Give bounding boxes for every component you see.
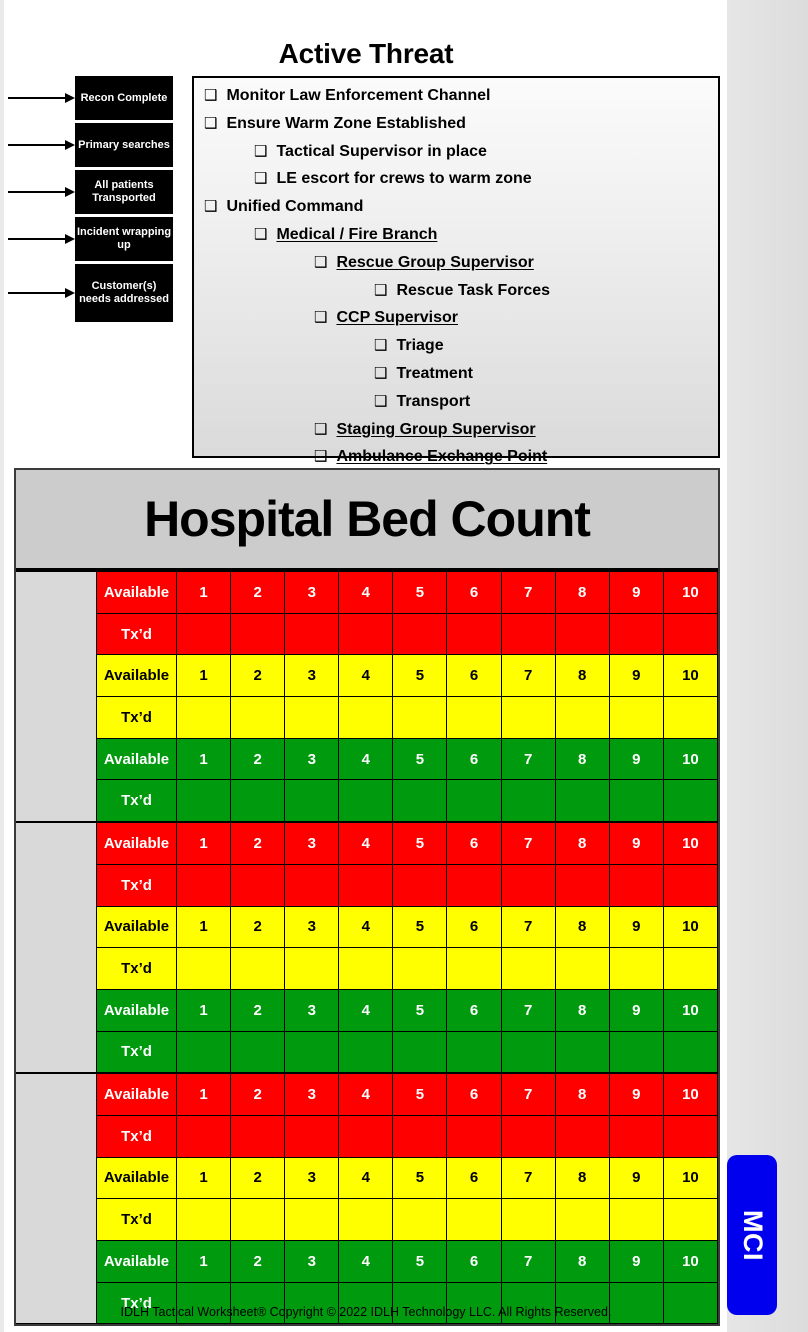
checklist-item-label: Transport — [396, 389, 470, 416]
bed-number-cell[interactable]: 10 — [663, 989, 717, 1031]
bed-number-cell[interactable]: 10 — [663, 1157, 717, 1199]
bed-entry-cell[interactable] — [501, 1115, 555, 1157]
row-label-cell: Tx’d — [97, 1031, 177, 1073]
bed-number-cell[interactable]: 1 — [177, 655, 231, 697]
checklist-item[interactable]: ❑Staging Group Supervisor — [194, 416, 718, 444]
bed-number-cell[interactable]: 5 — [393, 906, 447, 948]
row-label-cell: Tx’d — [97, 780, 177, 822]
row-label-cell: Available — [97, 655, 177, 697]
row-label-cell: Tx’d — [97, 1199, 177, 1241]
checkbox-icon[interactable]: ❑ — [254, 165, 267, 192]
table-row: Tx’d — [16, 1031, 718, 1073]
row-label-cell: Available — [97, 989, 177, 1031]
bed-entry-cell[interactable] — [393, 864, 447, 906]
bed-entry-cell[interactable] — [393, 780, 447, 822]
bed-entry-cell[interactable] — [501, 864, 555, 906]
bed-number-cell[interactable]: 9 — [609, 989, 663, 1031]
bed-number-cell[interactable]: 7 — [501, 1073, 555, 1115]
page-title: Active Threat — [5, 38, 727, 70]
bed-entry-cell[interactable] — [501, 1031, 555, 1073]
bed-number-cell[interactable]: 5 — [393, 571, 447, 613]
hospital-bed-count-title: Hospital Bed Count — [16, 470, 718, 570]
checklist-item-label: Rescue Task Forces — [396, 278, 550, 305]
bed-number-cell[interactable]: 10 — [663, 1241, 717, 1283]
arrow-icon-1 — [8, 97, 66, 99]
bed-number-cell[interactable]: 4 — [339, 655, 393, 697]
bed-number-cell[interactable]: 7 — [501, 906, 555, 948]
bed-number-cell[interactable]: 3 — [285, 571, 339, 613]
bed-number-cell[interactable]: 7 — [501, 989, 555, 1031]
row-label-cell: Available — [97, 1073, 177, 1115]
bed-number-cell[interactable]: 2 — [231, 1073, 285, 1115]
bed-number-cell[interactable]: 6 — [447, 571, 501, 613]
bed-entry-cell[interactable] — [609, 1115, 663, 1157]
bed-entry-cell[interactable] — [501, 697, 555, 739]
checklist-item[interactable]: ❑Ensure Warm Zone Established — [194, 110, 718, 138]
bed-entry-cell[interactable] — [393, 1199, 447, 1241]
bed-entry-cell[interactable] — [555, 613, 609, 655]
checklist-item-label: Ensure Warm Zone Established — [226, 111, 465, 138]
bed-entry-cell[interactable] — [231, 948, 285, 990]
bed-entry-cell[interactable] — [447, 613, 501, 655]
bed-entry-cell[interactable] — [285, 780, 339, 822]
table-row: Available12345678910 — [16, 1241, 718, 1283]
checkbox-icon[interactable]: ❑ — [314, 443, 327, 470]
bed-number-cell[interactable]: 10 — [663, 906, 717, 948]
bed-number-cell[interactable]: 6 — [447, 1073, 501, 1115]
checklist-item[interactable]: ❑Rescue Group Supervisor — [194, 249, 718, 277]
mci-tab-label: MCI — [737, 1210, 768, 1261]
status-box-label: Recon Complete — [81, 92, 168, 105]
status-box-3[interactable]: All patients Transported — [75, 170, 173, 214]
bed-number-cell[interactable]: 1 — [177, 1157, 231, 1199]
bed-number-cell[interactable]: 10 — [663, 1073, 717, 1115]
bed-entry-cell[interactable] — [555, 1115, 609, 1157]
bed-number-cell[interactable]: 7 — [501, 571, 555, 613]
checklist-item-label: Monitor Law Enforcement Channel — [226, 83, 490, 110]
bed-number-cell[interactable]: 10 — [663, 655, 717, 697]
bed-number-cell[interactable]: 2 — [231, 738, 285, 780]
bed-entry-cell[interactable] — [609, 864, 663, 906]
table-row: Available12345678910 — [16, 1073, 718, 1115]
bed-entry-cell[interactable] — [339, 1115, 393, 1157]
bed-number-cell[interactable]: 4 — [339, 989, 393, 1031]
status-box-label: Customer(s) needs addressed — [76, 280, 172, 306]
copyright-footer: IDLH Tactical Worksheet® Copyright © 202… — [5, 1305, 727, 1319]
bed-number-cell[interactable]: 5 — [393, 822, 447, 864]
bed-entry-cell[interactable] — [663, 864, 717, 906]
bed-entry-cell[interactable] — [285, 1031, 339, 1073]
bed-entry-cell[interactable] — [177, 1199, 231, 1241]
bed-number-cell[interactable]: 8 — [555, 1241, 609, 1283]
bed-number-cell[interactable]: 7 — [501, 738, 555, 780]
bed-number-cell[interactable]: 4 — [339, 906, 393, 948]
checklist-item-label: Medical / Fire Branch — [276, 222, 437, 249]
bed-number-cell[interactable]: 1 — [177, 989, 231, 1031]
checklist-item-label: Staging Group Supervisor — [336, 417, 535, 444]
bed-number-cell[interactable]: 9 — [609, 571, 663, 613]
bed-number-cell[interactable]: 10 — [663, 571, 717, 613]
bed-number-cell[interactable]: 9 — [609, 655, 663, 697]
bed-number-cell[interactable]: 5 — [393, 1241, 447, 1283]
bed-number-cell[interactable]: 1 — [177, 1073, 231, 1115]
checklist-item[interactable]: ❑LE escort for crews to warm zone — [194, 165, 718, 193]
row-label-cell: Available — [97, 822, 177, 864]
bed-number-cell[interactable]: 4 — [339, 822, 393, 864]
bed-entry-cell[interactable] — [339, 1199, 393, 1241]
row-label-cell: Tx’d — [97, 948, 177, 990]
bed-entry-cell[interactable] — [447, 697, 501, 739]
checkbox-icon[interactable]: ❑ — [374, 277, 387, 304]
checklist-item[interactable]: ❑Medical / Fire Branch — [194, 221, 718, 249]
bed-number-cell[interactable]: 3 — [285, 655, 339, 697]
row-label-cell: Tx’d — [97, 1115, 177, 1157]
mci-side-tab[interactable]: MCI — [727, 1155, 777, 1315]
table-row: Tx’d — [16, 1115, 718, 1157]
checklist-item-label: Rescue Group Supervisor — [336, 250, 533, 277]
bed-number-cell[interactable]: 10 — [663, 822, 717, 864]
bed-entry-cell[interactable] — [285, 697, 339, 739]
bed-number-cell[interactable]: 3 — [285, 989, 339, 1031]
checklist-item[interactable]: ❑Ambulance Exchange Point — [194, 443, 718, 471]
row-label-cell: Tx’d — [97, 613, 177, 655]
bed-entry-cell[interactable] — [663, 1115, 717, 1157]
status-box-column: Recon CompletePrimary searchesAll patien… — [75, 76, 173, 325]
bed-number-cell[interactable]: 2 — [231, 906, 285, 948]
bed-number-cell[interactable]: 3 — [285, 822, 339, 864]
checklist-item-label: Triage — [396, 333, 443, 360]
bed-number-cell[interactable]: 4 — [339, 1241, 393, 1283]
bed-number-cell[interactable]: 7 — [501, 1157, 555, 1199]
bed-number-cell[interactable]: 1 — [177, 738, 231, 780]
bed-number-cell[interactable]: 2 — [231, 1157, 285, 1199]
bed-number-cell[interactable]: 4 — [339, 1073, 393, 1115]
bed-entry-cell[interactable] — [663, 948, 717, 990]
bed-entry-cell[interactable] — [501, 780, 555, 822]
checklist-item-label: CCP Supervisor — [336, 305, 458, 332]
table-row: Available12345678910 — [16, 989, 718, 1031]
bed-entry-cell[interactable] — [177, 1115, 231, 1157]
checkbox-icon[interactable]: ❑ — [314, 416, 327, 443]
bed-entry-cell[interactable] — [447, 1115, 501, 1157]
checklist-item[interactable]: ❑Treatment — [194, 360, 718, 388]
checkbox-icon[interactable]: ❑ — [374, 388, 387, 415]
checkbox-icon[interactable]: ❑ — [314, 304, 327, 331]
bed-number-cell[interactable]: 9 — [609, 738, 663, 780]
status-box-4[interactable]: Incident wrapping up — [75, 217, 173, 261]
bed-entry-cell[interactable] — [339, 1031, 393, 1073]
bed-number-cell[interactable]: 8 — [555, 906, 609, 948]
bed-number-cell[interactable]: 5 — [393, 738, 447, 780]
status-box-label: All patients Transported — [76, 179, 172, 205]
row-label-cell: Available — [97, 571, 177, 613]
table-row: Tx’d — [16, 613, 718, 655]
bed-entry-cell[interactable] — [555, 1031, 609, 1073]
checklist-item[interactable]: ❑Unified Command — [194, 193, 718, 221]
bed-entry-cell[interactable] — [501, 1199, 555, 1241]
bed-entry-cell[interactable] — [609, 1199, 663, 1241]
bed-number-cell[interactable]: 2 — [231, 989, 285, 1031]
bed-entry-cell[interactable] — [231, 613, 285, 655]
bed-entry-cell[interactable] — [285, 948, 339, 990]
row-label-cell: Tx’d — [97, 864, 177, 906]
bed-number-cell[interactable]: 8 — [555, 989, 609, 1031]
active-threat-checklist: ❑Monitor Law Enforcement Channel❑Ensure … — [192, 76, 720, 458]
bed-entry-cell[interactable] — [609, 780, 663, 822]
bed-entry-cell[interactable] — [231, 1115, 285, 1157]
bed-number-cell[interactable]: 1 — [177, 822, 231, 864]
bed-number-cell[interactable]: 3 — [285, 1157, 339, 1199]
checkbox-icon[interactable]: ❑ — [204, 110, 217, 137]
bed-number-cell[interactable]: 3 — [285, 906, 339, 948]
status-box-label: Primary searches — [78, 139, 170, 152]
bed-number-cell[interactable]: 6 — [447, 1157, 501, 1199]
checklist-item[interactable]: ❑Tactical Supervisor in place — [194, 138, 718, 166]
bed-entry-cell[interactable] — [393, 697, 447, 739]
bed-entry-cell[interactable] — [663, 613, 717, 655]
bed-number-cell[interactable]: 2 — [231, 1241, 285, 1283]
checklist-item-label: LE escort for crews to warm zone — [276, 166, 531, 193]
bed-number-cell[interactable]: 9 — [609, 906, 663, 948]
row-label-cell: Available — [97, 1157, 177, 1199]
bed-number-cell[interactable]: 9 — [609, 1157, 663, 1199]
bed-entry-cell[interactable] — [393, 613, 447, 655]
bed-entry-cell[interactable] — [177, 948, 231, 990]
table-row: Available12345678910 — [16, 738, 718, 780]
checklist-item-label: Treatment — [396, 361, 472, 388]
bed-number-cell[interactable]: 7 — [501, 1241, 555, 1283]
bed-number-cell[interactable]: 5 — [393, 1157, 447, 1199]
bed-number-cell[interactable]: 8 — [555, 571, 609, 613]
bed-entry-cell[interactable] — [285, 613, 339, 655]
bed-entry-cell[interactable] — [339, 613, 393, 655]
bed-entry-cell[interactable] — [555, 948, 609, 990]
bed-number-cell[interactable]: 7 — [501, 655, 555, 697]
checklist-item[interactable]: ❑Transport — [194, 388, 718, 416]
bed-entry-cell[interactable] — [231, 697, 285, 739]
bed-entry-cell[interactable] — [501, 948, 555, 990]
table-row: Tx’d — [16, 697, 718, 739]
status-box-label: Incident wrapping up — [76, 226, 172, 252]
bed-entry-cell[interactable] — [177, 1031, 231, 1073]
bed-number-cell[interactable]: 4 — [339, 738, 393, 780]
hospital-bed-count-panel: Hospital Bed Count Available12345678910T… — [14, 468, 720, 1326]
checklist-item[interactable]: ❑CCP Supervisor — [194, 304, 718, 332]
arrow-icon-4 — [8, 238, 66, 240]
bed-number-cell[interactable]: 2 — [231, 655, 285, 697]
row-label-cell: Tx’d — [97, 697, 177, 739]
table-row: Tx’d — [16, 948, 718, 990]
bed-number-cell[interactable]: 2 — [231, 571, 285, 613]
bed-number-cell[interactable]: 6 — [447, 822, 501, 864]
status-box-2[interactable]: Primary searches — [75, 123, 173, 167]
bed-number-cell[interactable]: 1 — [177, 571, 231, 613]
bed-entry-cell[interactable] — [285, 864, 339, 906]
bed-entry-cell[interactable] — [555, 780, 609, 822]
bed-number-cell[interactable]: 8 — [555, 822, 609, 864]
arrow-icon-2 — [8, 144, 66, 146]
bed-entry-cell[interactable] — [177, 697, 231, 739]
bed-entry-cell[interactable] — [609, 613, 663, 655]
bed-number-cell[interactable]: 9 — [609, 1241, 663, 1283]
bed-number-cell[interactable]: 4 — [339, 1157, 393, 1199]
bed-entry-cell[interactable] — [663, 1199, 717, 1241]
bed-entry-cell[interactable] — [231, 864, 285, 906]
checkbox-icon[interactable]: ❑ — [374, 332, 387, 359]
bed-number-cell[interactable]: 7 — [501, 822, 555, 864]
bed-entry-cell[interactable] — [339, 948, 393, 990]
bed-entry-cell[interactable] — [609, 948, 663, 990]
checkbox-icon[interactable]: ❑ — [254, 138, 267, 165]
bed-entry-cell[interactable] — [339, 697, 393, 739]
bed-number-cell[interactable]: 6 — [447, 1241, 501, 1283]
bed-number-cell[interactable]: 8 — [555, 655, 609, 697]
bed-entry-cell[interactable] — [609, 697, 663, 739]
table-row: Available12345678910 — [16, 1157, 718, 1199]
arrow-icon-5 — [8, 292, 66, 294]
hospital-name-cell[interactable] — [16, 571, 97, 822]
bed-entry-cell[interactable] — [231, 1199, 285, 1241]
checkbox-icon[interactable]: ❑ — [254, 221, 267, 248]
hospital-bed-count-table: Available12345678910Tx’dAvailable1234567… — [16, 570, 718, 1324]
bed-entry-cell[interactable] — [555, 1199, 609, 1241]
bed-entry-cell[interactable] — [177, 780, 231, 822]
bed-entry-cell[interactable] — [447, 780, 501, 822]
bed-number-cell[interactable]: 9 — [609, 1073, 663, 1115]
bed-number-cell[interactable]: 2 — [231, 822, 285, 864]
bed-entry-cell[interactable] — [177, 613, 231, 655]
bed-number-cell[interactable]: 3 — [285, 738, 339, 780]
bed-entry-cell[interactable] — [447, 1031, 501, 1073]
worksheet-page: Active Threat Recon CompletePrimary sear… — [0, 0, 808, 1332]
bed-entry-cell[interactable] — [609, 1031, 663, 1073]
bed-entry-cell[interactable] — [447, 948, 501, 990]
bed-number-cell[interactable]: 3 — [285, 1241, 339, 1283]
table-row: Available12345678910 — [16, 571, 718, 613]
bed-number-cell[interactable]: 6 — [447, 738, 501, 780]
bed-entry-cell[interactable] — [447, 864, 501, 906]
bed-entry-cell[interactable] — [231, 780, 285, 822]
bed-entry-cell[interactable] — [339, 780, 393, 822]
bed-number-cell[interactable]: 6 — [447, 906, 501, 948]
hospital-name-cell[interactable] — [16, 822, 97, 1073]
bed-number-cell[interactable]: 8 — [555, 1073, 609, 1115]
bed-entry-cell[interactable] — [177, 864, 231, 906]
checkbox-icon[interactable]: ❑ — [314, 249, 327, 276]
bed-entry-cell[interactable] — [393, 948, 447, 990]
bed-number-cell[interactable]: 5 — [393, 989, 447, 1031]
bed-number-cell[interactable]: 4 — [339, 571, 393, 613]
bed-number-cell[interactable]: 3 — [285, 1073, 339, 1115]
bed-number-cell[interactable]: 8 — [555, 1157, 609, 1199]
bed-number-cell[interactable]: 10 — [663, 738, 717, 780]
bed-number-cell[interactable]: 6 — [447, 655, 501, 697]
checklist-item-label: Tactical Supervisor in place — [276, 139, 486, 166]
bed-entry-cell[interactable] — [663, 697, 717, 739]
table-row: Available12345678910 — [16, 822, 718, 864]
checklist-item[interactable]: ❑Monitor Law Enforcement Channel — [194, 82, 718, 110]
status-box-1[interactable]: Recon Complete — [75, 76, 173, 120]
bed-number-cell[interactable]: 1 — [177, 1241, 231, 1283]
table-row: Available12345678910 — [16, 906, 718, 948]
bed-entry-cell[interactable] — [285, 1115, 339, 1157]
bed-number-cell[interactable]: 8 — [555, 738, 609, 780]
status-box-5[interactable]: Customer(s) needs addressed — [75, 264, 173, 322]
bed-number-cell[interactable]: 5 — [393, 1073, 447, 1115]
hospital-name-cell[interactable] — [16, 1073, 97, 1324]
checkbox-icon[interactable]: ❑ — [204, 82, 217, 109]
checklist-item[interactable]: ❑Rescue Task Forces — [194, 277, 718, 305]
bed-entry-cell[interactable] — [663, 1031, 717, 1073]
table-row: Tx’d — [16, 864, 718, 906]
bed-entry-cell[interactable] — [393, 1031, 447, 1073]
bed-entry-cell[interactable] — [231, 1031, 285, 1073]
row-label-cell: Available — [97, 738, 177, 780]
checklist-item[interactable]: ❑Triage — [194, 332, 718, 360]
bed-entry-cell[interactable] — [393, 1115, 447, 1157]
table-row: Tx’d — [16, 780, 718, 822]
checkbox-icon[interactable]: ❑ — [374, 360, 387, 387]
bed-entry-cell[interactable] — [339, 864, 393, 906]
bed-number-cell[interactable]: 6 — [447, 989, 501, 1031]
bed-entry-cell[interactable] — [501, 613, 555, 655]
bed-entry-cell[interactable] — [555, 864, 609, 906]
table-row: Available12345678910 — [16, 655, 718, 697]
bed-entry-cell[interactable] — [285, 1199, 339, 1241]
row-label-cell: Available — [97, 906, 177, 948]
arrow-icon-3 — [8, 191, 66, 193]
checkbox-icon[interactable]: ❑ — [204, 193, 217, 220]
bed-entry-cell[interactable] — [663, 780, 717, 822]
bed-entry-cell[interactable] — [555, 697, 609, 739]
table-row: Tx’d — [16, 1199, 718, 1241]
bed-entry-cell[interactable] — [447, 1199, 501, 1241]
bed-number-cell[interactable]: 1 — [177, 906, 231, 948]
bed-number-cell[interactable]: 9 — [609, 822, 663, 864]
bed-number-cell[interactable]: 5 — [393, 655, 447, 697]
checklist-item-label: Unified Command — [226, 194, 363, 221]
row-label-cell: Available — [97, 1241, 177, 1283]
